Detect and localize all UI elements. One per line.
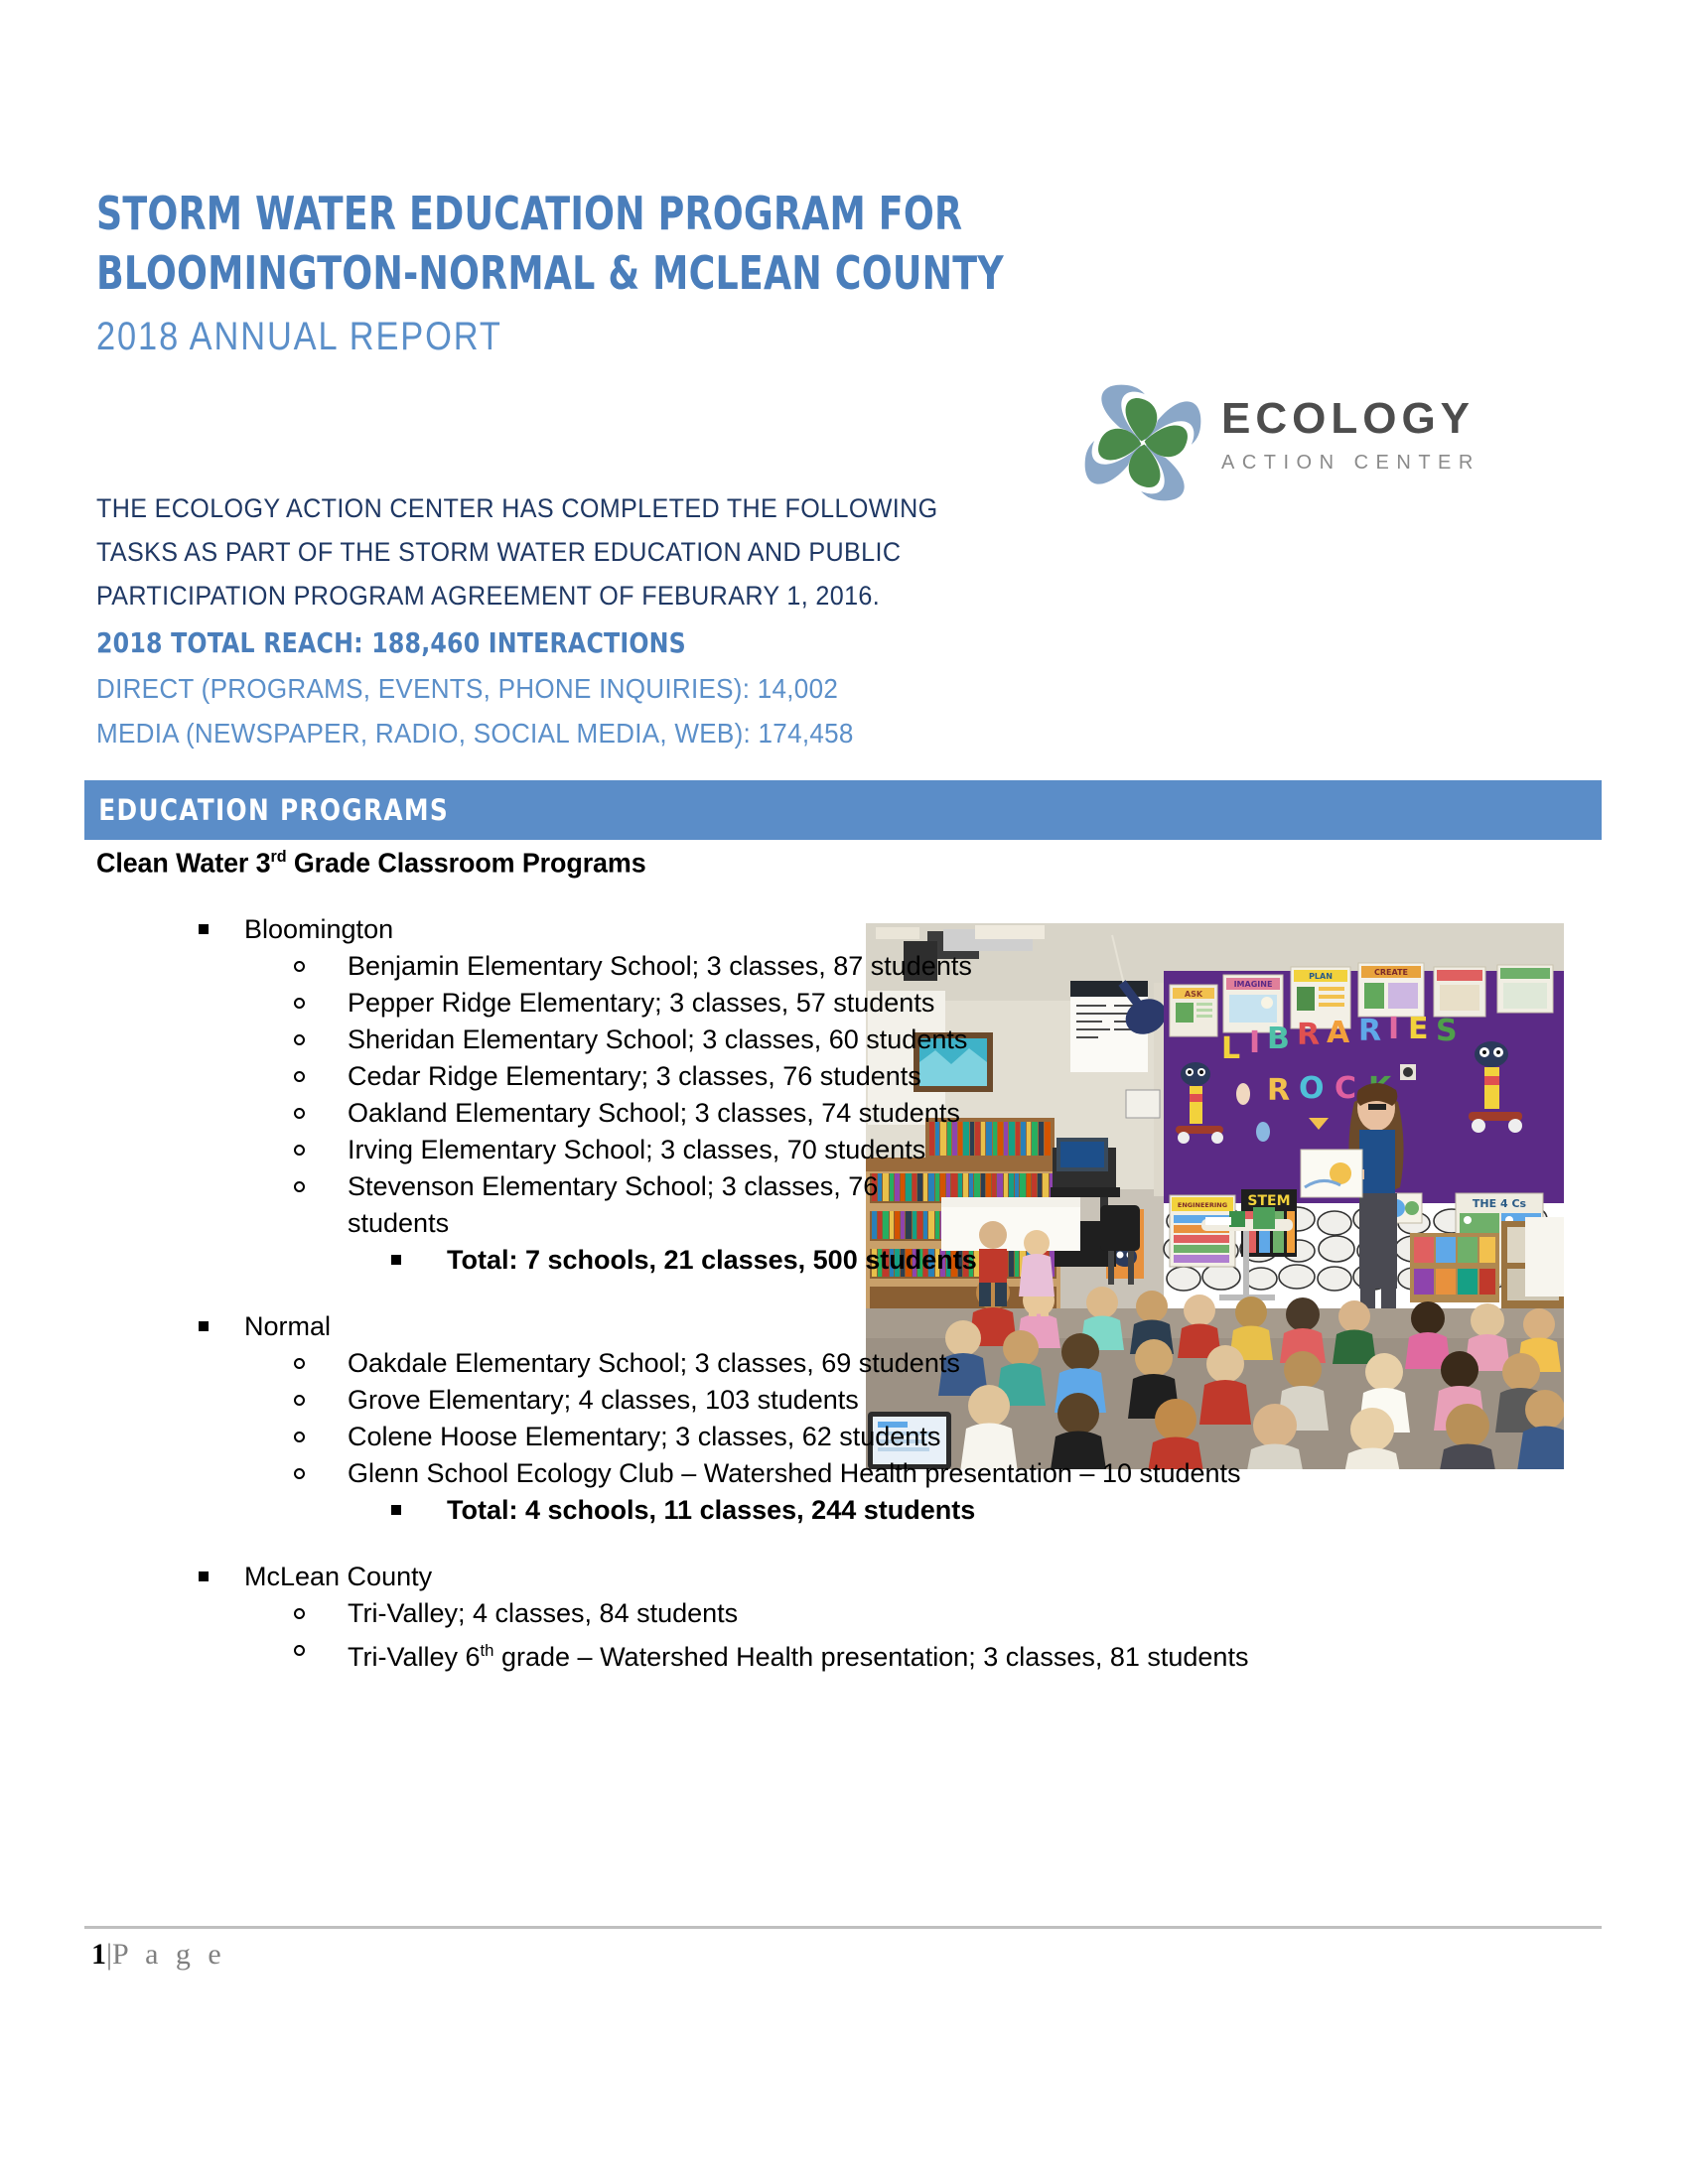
intro-paragraph: THE ECOLOGY ACTION CENTER HAS COMPLETED … xyxy=(96,486,1010,617)
entry-prefix: Tri-Valley; 4 classes, 84 students xyxy=(348,1598,738,1628)
entry-suffix: grade – Watershed Health presentation; 3… xyxy=(494,1642,1249,1672)
subheading-suffix: Grade Classroom Programs xyxy=(286,847,645,878)
list-item: Irving Elementary School; 3 classes, 70 … xyxy=(294,1132,983,1168)
list-item: Oakdale Elementary School; 3 classes, 69… xyxy=(294,1345,1440,1382)
circle-bullet-icon xyxy=(294,948,340,985)
square-bullet-icon xyxy=(199,911,244,948)
list-item: Cedar Ridge Elementary; 3 classes, 76 st… xyxy=(294,1058,983,1095)
school-entry: Oakdale Elementary School; 3 classes, 69… xyxy=(348,1345,1440,1382)
school-entry: Pepper Ridge Elementary; 3 classes, 57 s… xyxy=(348,985,983,1022)
logo-wordmark: ECOLOGY ACTION CENTER xyxy=(1221,394,1480,478)
program-list: Bloomington Benjamin Elementary School; … xyxy=(0,911,1688,1676)
list-item-group-normal: Normal xyxy=(199,1308,1138,1345)
school-entry: Colene Hoose Elementary; 3 classes, 62 s… xyxy=(348,1419,1440,1455)
education-programs-banner: EDUCATION PROGRAMS xyxy=(84,780,1602,840)
circle-bullet-icon xyxy=(294,1345,340,1382)
entry-prefix: Tri-Valley 6 xyxy=(348,1642,481,1672)
circle-bullet-icon xyxy=(294,1455,340,1492)
square-bullet-icon xyxy=(391,1492,437,1529)
total-reach-headline: 2018 TOTAL REACH: 188,460 INTERACTIONS xyxy=(96,620,1030,666)
logo-name-primary: ECOLOGY xyxy=(1221,394,1480,444)
circle-bullet-icon xyxy=(294,1058,340,1095)
school-entry: Grove Elementary; 4 classes, 103 student… xyxy=(348,1382,1440,1419)
document-title-block: STORM WATER EDUCATION PROGRAM FOR BLOOMI… xyxy=(96,184,1387,364)
circle-bullet-icon xyxy=(294,985,340,1022)
circle-bullet-icon xyxy=(294,1419,340,1455)
list-item: Colene Hoose Elementary; 3 classes, 62 s… xyxy=(294,1419,1440,1455)
school-entry: Stevenson Elementary School; 3 classes, … xyxy=(348,1168,983,1242)
logo-name-secondary: ACTION CENTER xyxy=(1221,448,1480,478)
square-bullet-icon xyxy=(199,1308,244,1345)
circle-bullet-icon xyxy=(294,1132,340,1168)
circle-bullet-icon xyxy=(294,1095,340,1132)
list-item: Sheridan Elementary School; 3 classes, 6… xyxy=(294,1022,983,1058)
list-item-group-mclean-county: McLean County xyxy=(199,1559,1138,1595)
entry-ordinal-suffix: th xyxy=(481,1641,494,1660)
footer-page-word: P a g e xyxy=(112,1938,226,1971)
list-item: Tri-Valley; 4 classes, 84 students xyxy=(294,1595,1440,1632)
media-reach-line: MEDIA (NEWSPAPER, RADIO, SOCIAL MEDIA, W… xyxy=(96,711,1020,755)
page-footer: 1|P a g e xyxy=(91,1938,226,1972)
footer-page-number: 1 xyxy=(91,1938,106,1971)
group-total-text: Total: 4 schools, 11 classes, 244 studen… xyxy=(447,1492,1440,1529)
intro-line-3: PARTICIPATION PROGRAM AGREEMENT OF FEBUR… xyxy=(96,574,946,617)
list-item: Benjamin Elementary School; 3 classes, 8… xyxy=(294,948,983,985)
list-item: Tri-Valley 6th grade – Watershed Health … xyxy=(294,1632,1440,1676)
square-bullet-icon xyxy=(391,1242,437,1279)
direct-reach-line: DIRECT (PROGRAMS, EVENTS, PHONE INQUIRIE… xyxy=(96,666,1020,711)
group-total-text: Total: 7 schools, 21 classes, 500 studen… xyxy=(447,1242,1440,1279)
school-entry: Glenn School Ecology Club – Watershed He… xyxy=(348,1455,1440,1492)
document-page: STORM WATER EDUCATION PROGRAM FOR BLOOMI… xyxy=(0,0,1688,2184)
education-programs-banner-label: EDUCATION PROGRAMS xyxy=(84,793,449,827)
ecology-leaf-pinwheel-icon xyxy=(1082,382,1203,503)
list-item: Oakland Elementary School; 3 classes, 74… xyxy=(294,1095,983,1132)
list-item: Grove Elementary; 4 classes, 103 student… xyxy=(294,1382,1440,1419)
document-title-line-1: STORM WATER EDUCATION PROGRAM FOR xyxy=(96,184,1232,243)
school-entry: Benjamin Elementary School; 3 classes, 8… xyxy=(348,948,983,985)
document-subtitle: 2018 ANNUAL REPORT xyxy=(96,309,1206,364)
school-entry: Oakland Elementary School; 3 classes, 74… xyxy=(348,1095,983,1132)
list-item-group-bloomington: Bloomington xyxy=(199,911,1138,948)
circle-bullet-icon xyxy=(294,1382,340,1419)
list-item: Pepper Ridge Elementary; 3 classes, 57 s… xyxy=(294,985,983,1022)
group-name: McLean County xyxy=(244,1559,1138,1595)
school-entry: Sheridan Elementary School; 3 classes, 6… xyxy=(348,1022,983,1058)
group-total-bloomington: Total: 7 schools, 21 classes, 500 studen… xyxy=(391,1242,1440,1279)
school-entry: Tri-Valley; 4 classes, 84 students xyxy=(348,1595,1440,1632)
subheading-ordinal-suffix: rd xyxy=(271,847,287,866)
group-name: Normal xyxy=(244,1308,1138,1345)
subheading-prefix: Clean Water 3 xyxy=(96,847,271,878)
total-reach-block: 2018 TOTAL REACH: 188,460 INTERACTIONS D… xyxy=(96,620,1089,755)
clean-water-subheading: Clean Water 3rd Grade Classroom Programs xyxy=(96,847,646,879)
document-title-line-2: BLOOMINGTON-NORMAL & MCLEAN COUNTY xyxy=(96,243,1232,303)
circle-bullet-icon xyxy=(294,1022,340,1058)
circle-bullet-icon xyxy=(294,1595,340,1632)
ecology-action-center-logo: ECOLOGY ACTION CENTER xyxy=(1082,382,1499,511)
school-entry: Irving Elementary School; 3 classes, 70 … xyxy=(348,1132,983,1168)
group-total-normal: Total: 4 schools, 11 classes, 244 studen… xyxy=(391,1492,1440,1529)
intro-line-1: THE ECOLOGY ACTION CENTER HAS COMPLETED … xyxy=(96,486,946,530)
footer-divider xyxy=(84,1926,1602,1929)
square-bullet-icon xyxy=(199,1559,244,1595)
circle-bullet-icon xyxy=(294,1168,340,1205)
school-entry: Tri-Valley 6th grade – Watershed Health … xyxy=(348,1632,1440,1676)
group-name: Bloomington xyxy=(244,911,1138,948)
circle-bullet-icon xyxy=(294,1632,340,1669)
list-item: Stevenson Elementary School; 3 classes, … xyxy=(294,1168,983,1242)
school-entry: Cedar Ridge Elementary; 3 classes, 76 st… xyxy=(348,1058,983,1095)
list-item: Glenn School Ecology Club – Watershed He… xyxy=(294,1455,1440,1492)
group-spacer xyxy=(0,1529,1688,1559)
intro-line-2: TASKS AS PART OF THE STORM WATER EDUCATI… xyxy=(96,530,946,574)
group-spacer xyxy=(0,1279,1688,1308)
